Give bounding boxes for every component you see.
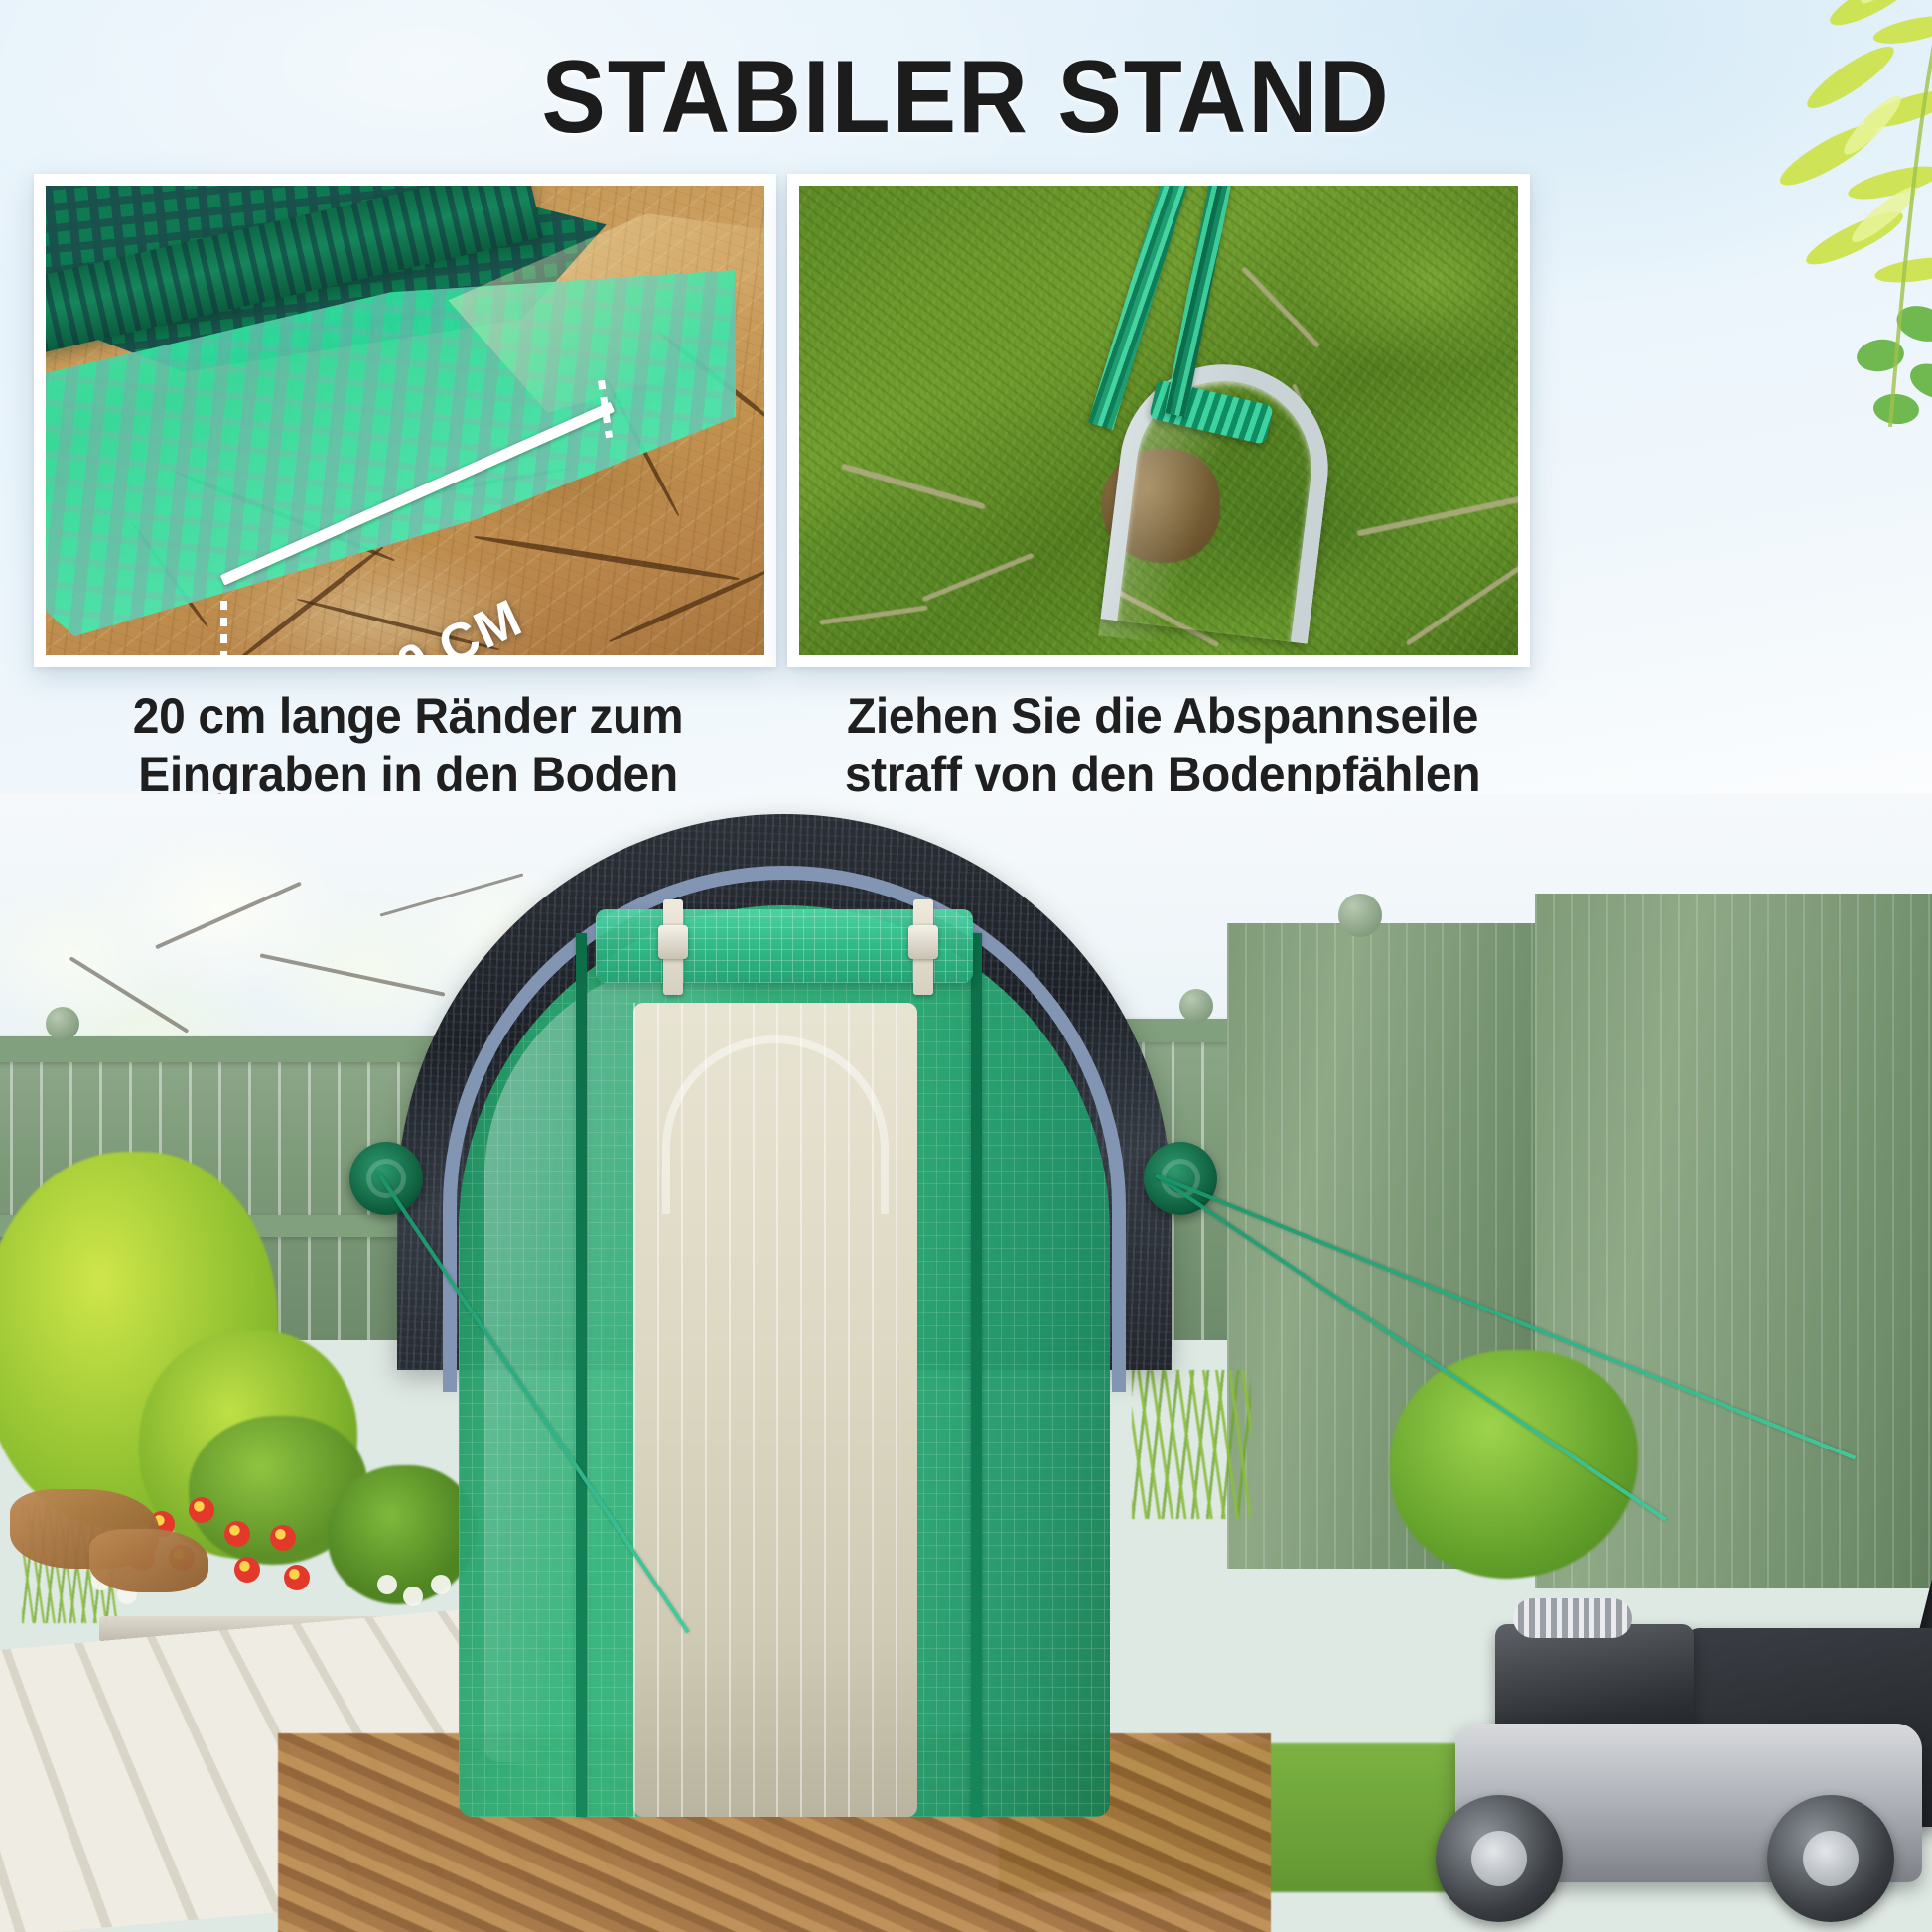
door-zipper-left[interactable] [576,933,587,1817]
white-flower [377,1575,397,1594]
red-flower [224,1521,250,1547]
rope-reel-left[interactable] [349,1142,423,1215]
photo-mesh-edge-buried-in-soil: 20 CM [46,186,764,655]
hero-garden-scene [0,794,1932,1932]
mower-wheel-right [1767,1795,1894,1922]
polytunnel-greenhouse [397,814,1172,1817]
buckle-strap-right[interactable] [913,899,933,995]
top-feature-panel: STABILER STAND 20 CM [0,0,1932,794]
fence-post-ball-mid [1179,989,1213,1023]
feature-caption-guy-ropes: Ziehen Sie die Abspannseile straff von d… [809,687,1516,794]
feature-caption-buried-edges: 20 cm lange Ränder zum Eingraben in den … [55,687,761,794]
red-flower [284,1565,310,1590]
rope-reel-right[interactable] [1144,1142,1217,1215]
engine-cooling-fins [1513,1598,1632,1638]
decorative-rock [89,1529,208,1592]
door-zipper-right[interactable] [971,933,982,1817]
mower-wheel-left [1436,1795,1563,1922]
photo-ground-peg-with-guy-rope [799,186,1518,655]
greenhouse-doorway [633,1003,917,1817]
red-flower [234,1557,260,1583]
buckle-strap-left[interactable] [663,899,683,995]
page-title: STABILER STAND [68,46,1864,149]
fence-post-ball-left [46,1007,79,1040]
red-flower [189,1497,214,1523]
feature-photo-card-buried-edges: 20 CM [34,174,776,667]
feature-photo-card-guy-ropes [787,174,1530,667]
fence-post-ball-right [1338,894,1382,937]
red-flower [270,1525,296,1551]
measurement-tick-start [220,601,227,655]
petrol-lawn-mower [1396,1535,1932,1922]
